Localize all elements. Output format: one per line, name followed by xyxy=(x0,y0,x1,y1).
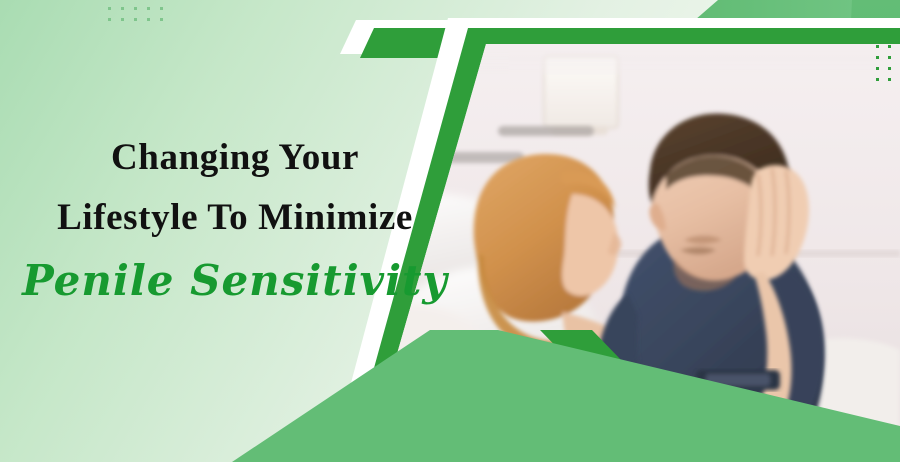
dot xyxy=(876,56,879,59)
dot xyxy=(147,7,150,10)
promo-banner: Changing Your Lifestyle To Minimize Peni… xyxy=(0,0,900,462)
dot-grid-top-left-icon xyxy=(108,0,173,29)
dot xyxy=(876,78,879,81)
dot xyxy=(108,7,111,10)
headline-line-3-accent: Penile Sensitivity xyxy=(0,248,470,313)
dot xyxy=(888,56,891,59)
dot xyxy=(888,34,891,37)
dot xyxy=(876,45,879,48)
dot xyxy=(160,18,163,21)
dot xyxy=(134,18,137,21)
dot xyxy=(160,7,163,10)
dot xyxy=(888,67,891,70)
headline-line-2: Lifestyle To Minimize xyxy=(0,188,470,248)
dot xyxy=(147,18,150,21)
dot xyxy=(888,45,891,48)
dot xyxy=(876,67,879,70)
dot xyxy=(121,18,124,21)
dot xyxy=(876,34,879,37)
headline-block: Changing Your Lifestyle To Minimize Peni… xyxy=(0,128,470,313)
bottom-green-band xyxy=(380,428,900,462)
dot-grid-top-right-icon xyxy=(876,34,900,89)
headline-line-1: Changing Your xyxy=(0,128,470,188)
dot xyxy=(121,7,124,10)
dot xyxy=(134,7,137,10)
dot xyxy=(108,18,111,21)
dot xyxy=(888,78,891,81)
